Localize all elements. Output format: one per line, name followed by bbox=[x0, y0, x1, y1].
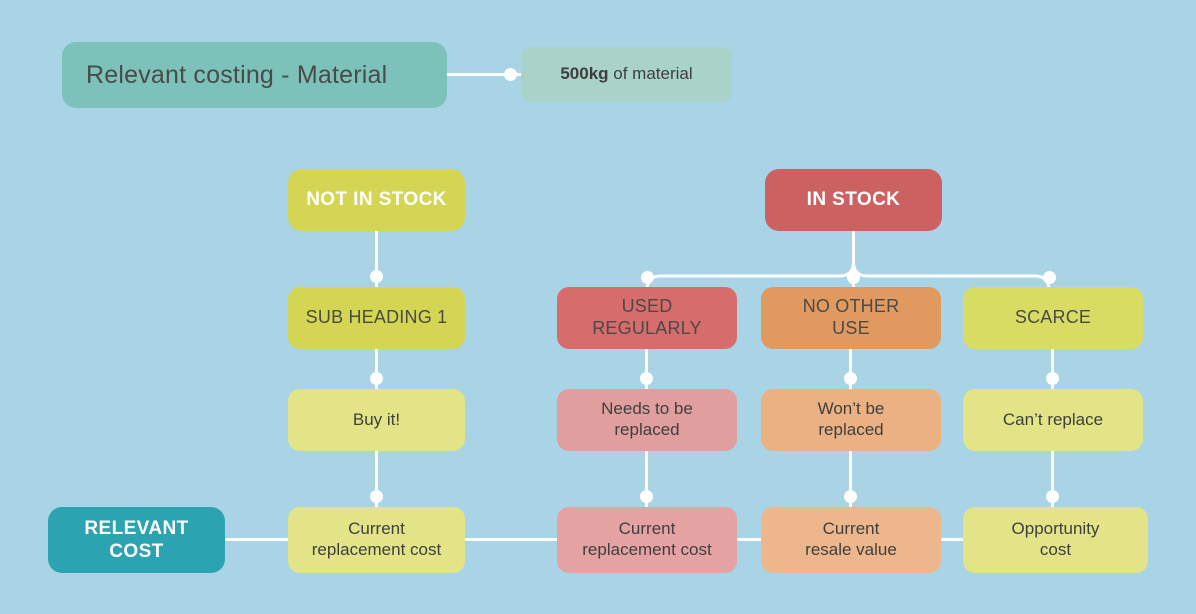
note-amount: 500kg bbox=[560, 64, 608, 83]
connector-dot-needs-replaced bbox=[640, 372, 653, 385]
node-current-replacement-cost-left[interactable]: Current replacement cost bbox=[288, 507, 465, 573]
node-opportunity-cost[interactable]: Opportunity cost bbox=[963, 507, 1148, 573]
node-used-regularly[interactable]: USED REGULARLY bbox=[557, 287, 737, 349]
connector-dot-opportunity bbox=[1046, 490, 1059, 503]
connector-dot-no-other-use bbox=[847, 271, 860, 284]
node-current-replacement-cost-mid[interactable]: Current replacement cost bbox=[557, 507, 737, 573]
node-not-in-stock[interactable]: NOT IN STOCK bbox=[288, 169, 465, 231]
node-wont-be-replaced[interactable]: Won’t be replaced bbox=[761, 389, 941, 451]
node-no-other-use[interactable]: NO OTHER USE bbox=[761, 287, 941, 349]
connector-dot-wont-replaced bbox=[844, 372, 857, 385]
node-sub-heading-1[interactable]: SUB HEADING 1 bbox=[288, 287, 465, 349]
connector-dot-scarce bbox=[1043, 271, 1056, 284]
node-relevant-cost[interactable]: RELEVANT COST bbox=[48, 507, 225, 573]
node-scarce[interactable]: SCARCE bbox=[963, 287, 1143, 349]
flowchart-canvas: Relevant costing - Material 500kg of mat… bbox=[0, 0, 1196, 614]
diagram-title: Relevant costing - Material bbox=[62, 42, 447, 108]
node-in-stock[interactable]: IN STOCK bbox=[765, 169, 942, 231]
connector-dot-note bbox=[504, 68, 517, 81]
connector-dot-crc-mid bbox=[640, 490, 653, 503]
connector-dot-used-regularly bbox=[641, 271, 654, 284]
node-cant-replace[interactable]: Can’t replace bbox=[963, 389, 1143, 451]
connector-dot-subheading bbox=[370, 270, 383, 283]
node-current-resale-value[interactable]: Current resale value bbox=[761, 507, 941, 573]
node-needs-to-be-replaced[interactable]: Needs to be replaced bbox=[557, 389, 737, 451]
note-rest: of material bbox=[609, 64, 693, 83]
connector-dot-buyit bbox=[370, 372, 383, 385]
connector-dot-cant-replace bbox=[1046, 372, 1059, 385]
connector-dot-crc-left bbox=[370, 490, 383, 503]
node-buy-it[interactable]: Buy it! bbox=[288, 389, 465, 451]
material-quantity-note: 500kg of material bbox=[521, 47, 732, 102]
connector-dot-resale bbox=[844, 490, 857, 503]
